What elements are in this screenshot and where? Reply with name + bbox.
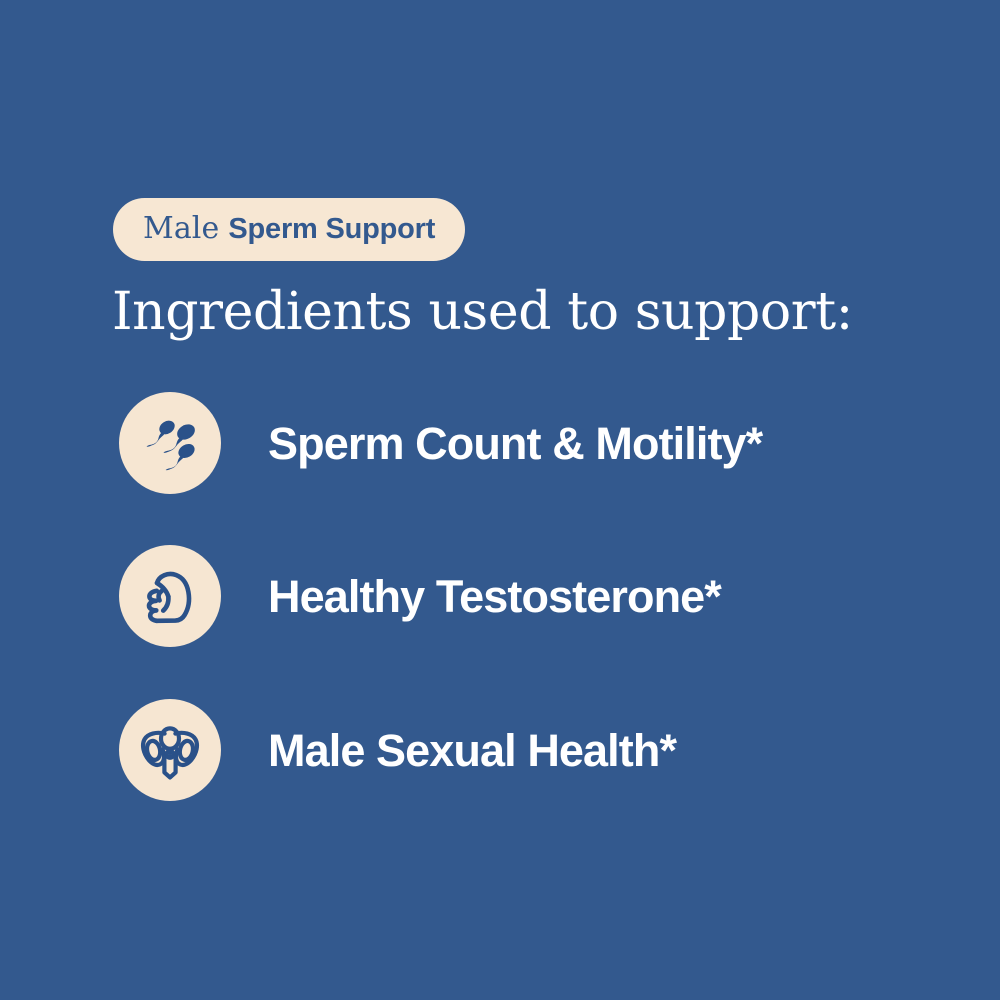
male-reproductive-anatomy-icon bbox=[119, 699, 221, 801]
badge-serif-word: Male bbox=[143, 214, 219, 244]
flexed-bicep-icon bbox=[119, 545, 221, 647]
benefit-label: Healthy Testosterone* bbox=[268, 574, 721, 619]
badge-bold-words: Sperm Support bbox=[228, 215, 435, 244]
benefit-row: Sperm Count & Motility* bbox=[119, 392, 762, 494]
male-sperm-support-card: Male Sperm Support Ingredients used to s… bbox=[0, 0, 1000, 1000]
benefit-row: Healthy Testosterone* bbox=[119, 545, 721, 647]
benefit-row: Male Sexual Health* bbox=[119, 699, 676, 801]
page-title: Ingredients used to support: bbox=[112, 283, 853, 341]
benefit-label: Sperm Count & Motility* bbox=[268, 421, 762, 466]
sperm-cells-icon bbox=[119, 392, 221, 494]
benefit-label: Male Sexual Health* bbox=[268, 728, 676, 773]
badge-male-sperm-support: Male Sperm Support bbox=[113, 198, 465, 261]
